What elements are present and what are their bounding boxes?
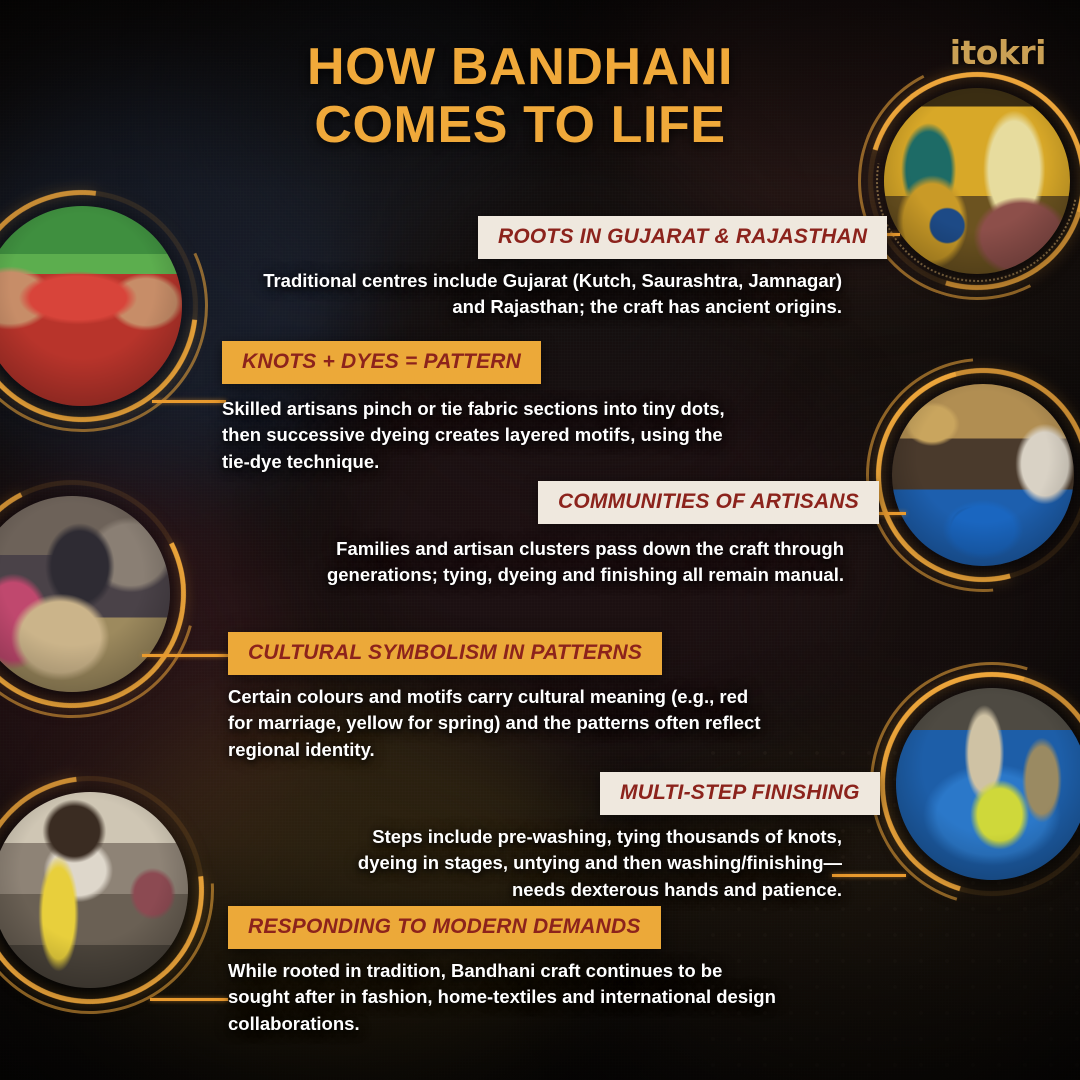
circular-photo [892, 384, 1074, 566]
step-photo-blue-dye-bath [896, 688, 1080, 880]
connector-line-step-2 [152, 400, 226, 403]
step-body-roots-in-gujarat-rajasthan: Traditional centres include Gujarat (Kut… [230, 268, 842, 321]
connector-line-step-6 [150, 998, 228, 1001]
step-label-roots-in-gujarat-rajasthan[interactable]: ROOTS IN GUJARAT & RAJASTHAN [478, 216, 887, 259]
step-label-communities-of-artisans[interactable]: COMMUNITIES OF ARTISANS [538, 481, 879, 524]
circular-photo [884, 88, 1070, 274]
connector-line-step-5 [832, 874, 906, 877]
step-photo-woman-sorting-tied-cloth [0, 496, 170, 692]
circular-photo [896, 688, 1080, 880]
title-line-2: COMES TO LIFE [140, 96, 900, 154]
title-line-1: HOW BANDHANI [307, 38, 733, 96]
step-body-multi-step-finishing: Steps include pre-washing, tying thousan… [312, 824, 842, 903]
step-photo-artisan-lifting-yellow-cloth [0, 792, 188, 988]
step-body-cultural-symbolism-in-patterns: Certain colours and motifs carry cultura… [228, 684, 768, 763]
step-body-knots-dyes-pattern: Skilled artisans pinch or tie fabric sec… [222, 396, 752, 475]
step-body-responding-to-modern-demands: While rooted in tradition, Bandhani craf… [228, 958, 788, 1037]
step-body-communities-of-artisans: Families and artisan clusters pass down … [228, 536, 844, 589]
circular-photo [0, 792, 188, 988]
step-label-responding-to-modern-demands[interactable]: RESPONDING TO MODERN DEMANDS [228, 906, 661, 949]
step-photo-dyer-at-blue-tub [892, 384, 1074, 566]
step-label-multi-step-finishing[interactable]: MULTI-STEP FINISHING [600, 772, 880, 815]
infographic-poster: itokri HOW BANDHANI COMES TO LIFE [0, 0, 1080, 1080]
circular-photo [0, 206, 182, 406]
circular-photo [0, 496, 170, 692]
step-label-cultural-symbolism-in-patterns[interactable]: CULTURAL SYMBOLISM IN PATTERNS [228, 632, 662, 675]
step-photo-hands-pinching-red-cloth [0, 206, 182, 406]
connector-line-step-4 [142, 654, 228, 657]
step-photo-women-tying-knots [884, 88, 1070, 274]
step-label-knots-dyes-pattern[interactable]: KNOTS + DYES = PATTERN [222, 341, 541, 384]
